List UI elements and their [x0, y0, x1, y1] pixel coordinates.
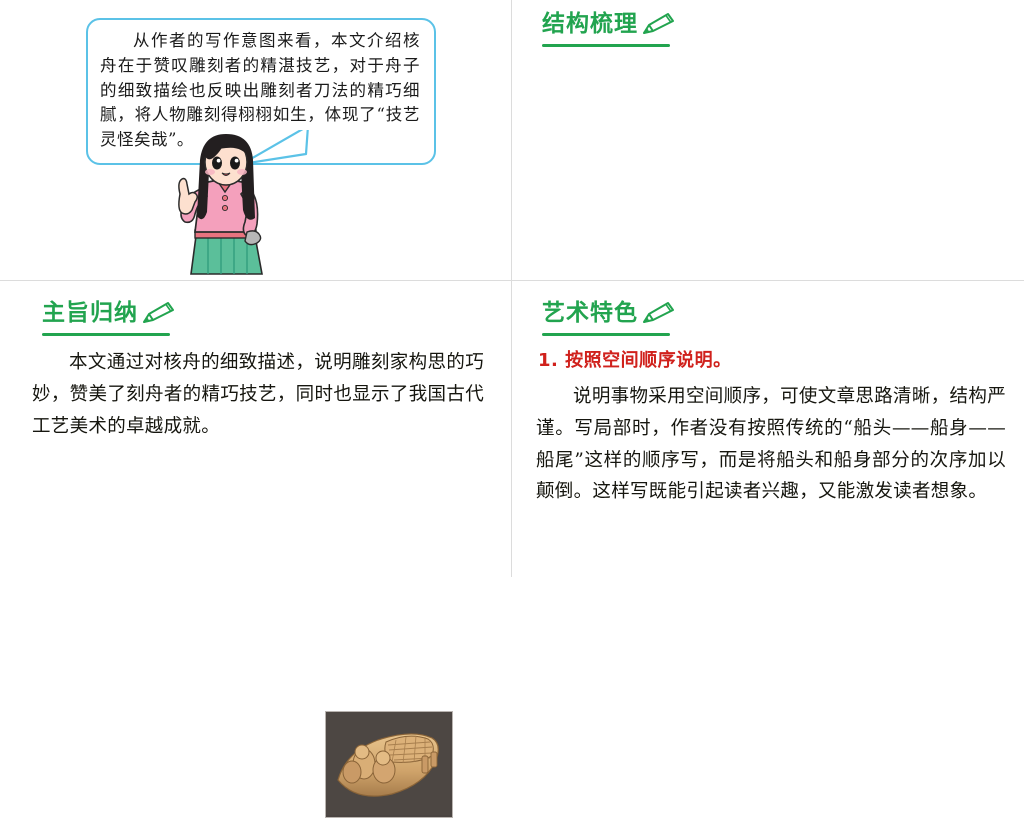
art-heading: 艺术特色	[542, 301, 675, 325]
cartoon-girl-illustration	[163, 132, 293, 280]
art-heading-label: 艺术特色	[542, 302, 638, 325]
speech-bubble-panel: 从作者的写作意图来看，本文介绍核舟在于赞叹雕刻者的精湛技艺，对于舟子的细致描绘也…	[0, 0, 511, 280]
carved-boat-photo	[325, 711, 453, 818]
structure-heading-underline	[542, 44, 670, 47]
carved-boat-image	[326, 712, 450, 815]
theme-heading-label: 主旨归纳	[42, 302, 138, 325]
structure-panel: 结构梳理 核舟记 总概说核舟之奇巧，引出由来 分 评述 核舟 精妙 船体设计大小…	[512, 0, 1024, 280]
theme-heading: 主旨归纳	[42, 301, 175, 325]
art-heading-underline	[542, 333, 670, 336]
theme-panel: 主旨归纳 本文通过对核舟的细致描述，说明雕刻家构思的巧妙，赞美了刻舟者的精巧技艺…	[0, 281, 511, 577]
structure-heading-label: 结构梳理	[542, 13, 638, 36]
pencil-icon	[141, 301, 175, 325]
art-point-1: 1. 按照空间顺序说明。	[538, 346, 732, 372]
pencil-icon	[641, 12, 675, 36]
pencil-icon	[641, 301, 675, 325]
structure-heading: 结构梳理	[542, 12, 675, 36]
art-paragraph: 说明事物采用空间顺序，可使文章思路清晰，结构严谨。写局部时，作者没有按照传统的“…	[536, 381, 1006, 508]
theme-heading-underline	[42, 333, 170, 336]
art-panel: 艺术特色 1. 按照空间顺序说明。 说明事物采用空间顺序，可使文章思路清晰，结构…	[512, 281, 1024, 577]
theme-paragraph: 本文通过对核舟的细致描述，说明雕刻家构思的巧妙，赞美了刻舟者的精巧技艺，同时也显…	[32, 347, 484, 442]
